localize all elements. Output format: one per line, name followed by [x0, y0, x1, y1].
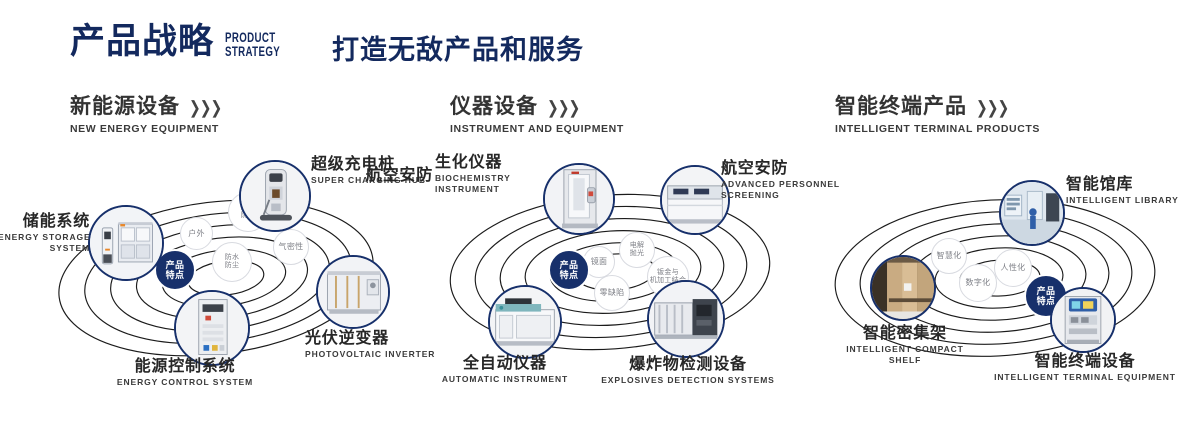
diagram-instrument-and-equipment: 镜面 电解 抛光 零缺陷 钣金与 机加工结合 产品 特点 [415, 150, 815, 400]
node-caption-en: ENERGY STORAGE SYSTEM [0, 232, 90, 254]
product-features-label: 产品 特点 [560, 260, 579, 281]
section-heading-instrument: 仪器设备 ❯❯❯ INSTRUMENT AND EQUIPMENT [450, 95, 624, 135]
feature-bubble-label: 电解 抛光 [630, 242, 645, 259]
caption-line: INTELLIGENT COMPACT [846, 344, 964, 354]
node-caption-biochemistry-instrument: 生化仪器 BIOCHEMISTRY INSTRUMENT [435, 154, 511, 195]
node-caption-energy-control-system: 能源控制系统 ENERGY CONTROL SYSTEM [55, 358, 315, 388]
library-art [1001, 182, 1063, 244]
node-image-advanced-personnel-screening[interactable] [660, 165, 730, 235]
node-caption-cn: 生化仪器 [435, 154, 511, 172]
feature-bubble: 气密性 [273, 229, 309, 265]
energy-storage-art [90, 207, 162, 279]
automatic-instrument-art [490, 287, 560, 357]
chevron-right-icon: ❯❯❯ [189, 92, 221, 122]
section-heading-intelligent: 智能终端产品 ❯❯❯ INTELLIGENT TERMINAL PRODUCTS [835, 95, 1040, 135]
page-title-en: PRODUCT STRATEGY [225, 31, 280, 58]
node-image-energy-control-system[interactable] [174, 290, 250, 366]
page-title-en-line2: STRATEGY [225, 44, 280, 59]
feature-bubble-label: 智慧化 [937, 251, 962, 261]
chevron-right-icon: ❯❯❯ [976, 92, 1008, 122]
feature-bubble-label: 防水 防尘 [225, 254, 240, 271]
badge-line: 特点 [560, 270, 579, 280]
section-heading-cn: 智能终端产品 ❯❯❯ [835, 95, 1040, 119]
node-caption-cn: 智能终端设备 [955, 353, 1200, 371]
node-caption-en: EXPLOSIVES DETECTION SYSTEMS [560, 375, 816, 386]
node-caption-en: INTELLIGENT TERMINAL EQUIPMENT [955, 372, 1200, 383]
node-image-intelligent-terminal-equipment[interactable] [1050, 287, 1116, 353]
feature-bubble-label: 数字化 [966, 278, 991, 288]
feature-bubble-label: 气密性 [279, 242, 304, 252]
node-caption-intelligent-library: 智能馆库 INTELLIGENT LIBRARY [1066, 176, 1179, 206]
section-heading-label: 新能源设备 [70, 95, 180, 119]
feature-bubble-label: 零缺陷 [600, 288, 625, 298]
node-caption-en: INTELLIGENT LIBRARY [1066, 195, 1179, 206]
page-title: 产品战略 PRODUCT STRATEGY [70, 24, 302, 59]
diagram-new-energy-equipment: 户外 防腐 防锈 防水 防尘 气密性 产品 特点 [30, 150, 430, 400]
chevron-right-icon: ❯❯❯ [547, 92, 579, 122]
badge-line: 产品 [166, 260, 185, 270]
screening-art [662, 167, 728, 233]
node-caption-cn: 智能馆库 [1066, 176, 1179, 194]
section-heading-en: NEW ENERGY EQUIPMENT [70, 123, 221, 135]
page-title-cn: 产品战略 [70, 24, 214, 59]
page-subtitle: 打造无敌产品和服务 [332, 37, 584, 64]
feature-bubble: 人性化 [994, 249, 1032, 287]
caption-line: SYSTEM [50, 243, 90, 253]
section-heading-label: 仪器设备 [450, 95, 538, 119]
terminal-equipment-art [1052, 289, 1114, 351]
feature-bubble: 智慧化 [931, 238, 967, 274]
poster-canvas: 产品战略 PRODUCT STRATEGY 打造无敌产品和服务 新能源设备 ❯❯… [0, 0, 1200, 422]
node-caption-aviation-security-left: 航空安防 [347, 167, 433, 185]
inverter-art [318, 257, 388, 327]
feature-line: 钣金与 [657, 269, 679, 276]
badge-line: 特点 [166, 270, 185, 280]
compact-shelf-art [872, 257, 934, 319]
feature-bubble-label: 镜面 [591, 257, 608, 267]
section-heading-en: INSTRUMENT AND EQUIPMENT [450, 123, 624, 135]
feature-bubble: 防水 防尘 [212, 242, 252, 282]
badge-line: 产品 [560, 260, 579, 270]
caption-line: BIOCHEMISTRY [435, 173, 511, 183]
feature-line: 防尘 [225, 262, 240, 269]
feature-bubble: 户外 [180, 217, 213, 250]
node-image-intelligent-library[interactable] [999, 180, 1065, 246]
node-caption-cn: 能源控制系统 [55, 358, 315, 376]
node-caption-cn: 储能系统 [0, 213, 90, 231]
node-caption-cn: 智能密集架 [775, 325, 1035, 343]
feature-line: 抛光 [630, 250, 645, 257]
feature-bubble: 零缺陷 [594, 275, 630, 311]
biochemistry-art [545, 165, 613, 233]
section-heading-new-energy: 新能源设备 ❯❯❯ NEW ENERGY EQUIPMENT [70, 95, 221, 135]
node-image-photovoltaic-inverter[interactable] [316, 255, 390, 329]
node-caption-intelligent-terminal-equipment: 智能终端设备 INTELLIGENT TERMINAL EQUIPMENT [955, 353, 1200, 383]
product-features-label: 产品 特点 [166, 260, 185, 281]
caption-line: INSTRUMENT [435, 184, 500, 194]
feature-line: 电解 [630, 242, 645, 249]
node-image-biochemistry-instrument[interactable] [543, 163, 615, 235]
caption-line: SHELF [889, 355, 921, 365]
node-image-energy-storage-system[interactable] [88, 205, 164, 281]
control-cabinet-art [176, 292, 248, 364]
node-image-automatic-instrument[interactable] [488, 285, 562, 359]
node-image-explosives-detection-systems[interactable] [647, 280, 725, 358]
node-caption-energy-storage-system: 储能系统 ENERGY STORAGE SYSTEM [0, 213, 90, 254]
node-caption-cn: 航空安防 [347, 167, 433, 185]
explosives-detection-art [649, 282, 723, 356]
section-heading-cn: 新能源设备 ❯❯❯ [70, 95, 221, 119]
feature-bubble: 电解 抛光 [619, 232, 655, 268]
node-image-super-charging-hub[interactable] [239, 160, 311, 232]
section-heading-label: 智能终端产品 [835, 95, 967, 119]
feature-bubble-label: 人性化 [1001, 263, 1026, 273]
caption-line: ENERGY STORAGE [0, 232, 91, 242]
feature-bubble: 数字化 [959, 264, 997, 302]
product-features-badge: 产品 特点 [548, 249, 590, 291]
node-caption-en: BIOCHEMISTRY INSTRUMENT [435, 173, 511, 195]
charging-hub-art [241, 162, 309, 230]
node-caption-en: ENERGY CONTROL SYSTEM [55, 377, 315, 388]
diagram-intelligent-terminal-products: 智慧化 数字化 人性化 产品 特点 [800, 150, 1200, 400]
section-heading-en: INTELLIGENT TERMINAL PRODUCTS [835, 123, 1040, 135]
feature-bubble-label: 户外 [188, 229, 205, 239]
node-image-intelligent-compact-shelf[interactable] [870, 255, 936, 321]
section-heading-cn: 仪器设备 ❯❯❯ [450, 95, 624, 119]
feature-line: 防水 [225, 254, 240, 261]
caption-line: SCREENING [721, 190, 780, 200]
